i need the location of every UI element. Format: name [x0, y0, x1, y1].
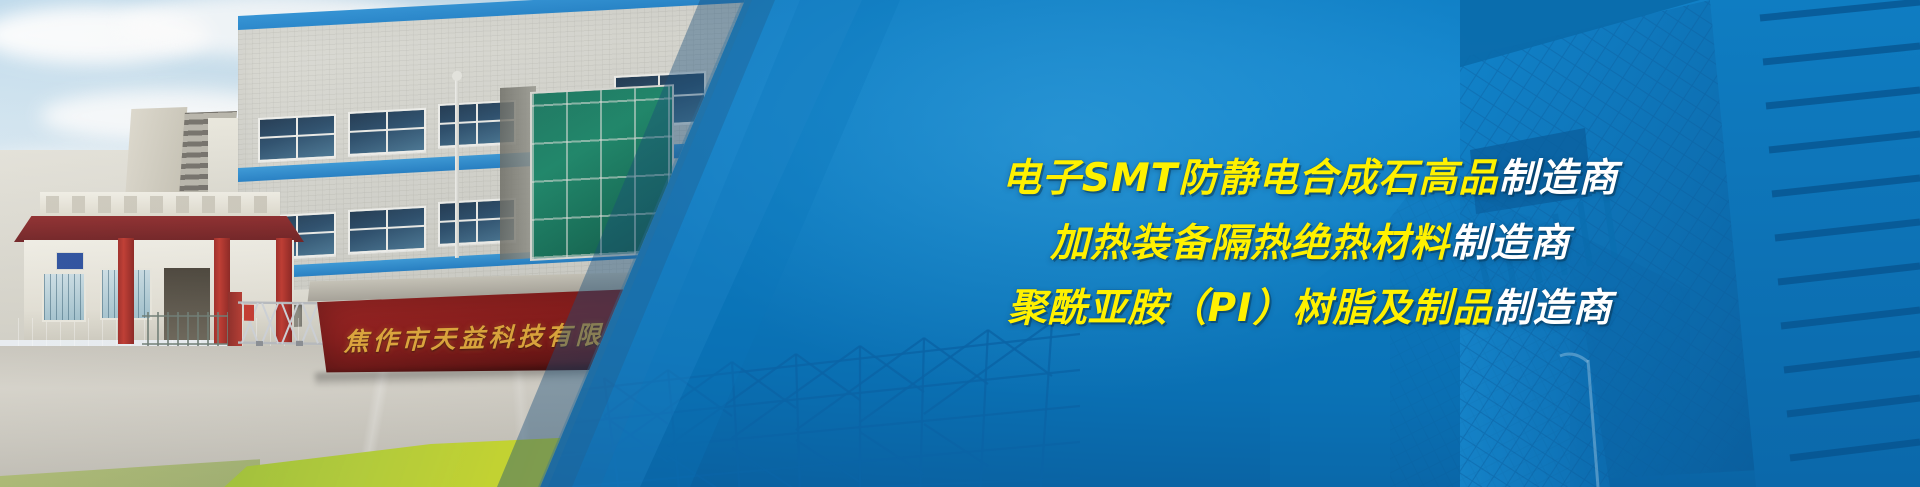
iron-fence	[140, 312, 236, 348]
stair-tower	[125, 107, 188, 205]
gatehouse-parapet	[40, 192, 280, 218]
gatehouse-plaque	[56, 252, 84, 270]
headline-2-plain: 制造商	[1450, 221, 1570, 266]
window	[348, 108, 426, 156]
hero-banner: 焦作市天益科技有限公司 电子SMT防静电合成石高品制造商 加热装备隔热绝热材料制…	[0, 0, 1920, 487]
headline-1-highlight: 电子SMT防静电合成石高品	[1002, 156, 1499, 201]
headline-3-highlight: 聚酰亚胺（PI）树脂及制品	[1007, 286, 1492, 331]
headline-1-plain: 制造商	[1498, 156, 1618, 201]
headline-line-1: 电子SMT防静电合成石高品制造商	[1002, 159, 1619, 198]
headline-line-2: 加热装备隔热绝热材料制造商	[1050, 224, 1570, 263]
headline-2-highlight: 加热装备隔热绝热材料	[1050, 221, 1450, 266]
headline-3-plain: 制造商	[1493, 286, 1613, 331]
headline-line-3: 聚酰亚胺（PI）树脂及制品制造商	[1007, 289, 1612, 328]
window	[348, 206, 426, 254]
gatehouse-window	[42, 272, 86, 322]
gatehouse-column	[118, 238, 134, 344]
flagpole	[455, 78, 459, 258]
gatehouse-red-roof	[14, 216, 304, 242]
window	[258, 114, 336, 162]
